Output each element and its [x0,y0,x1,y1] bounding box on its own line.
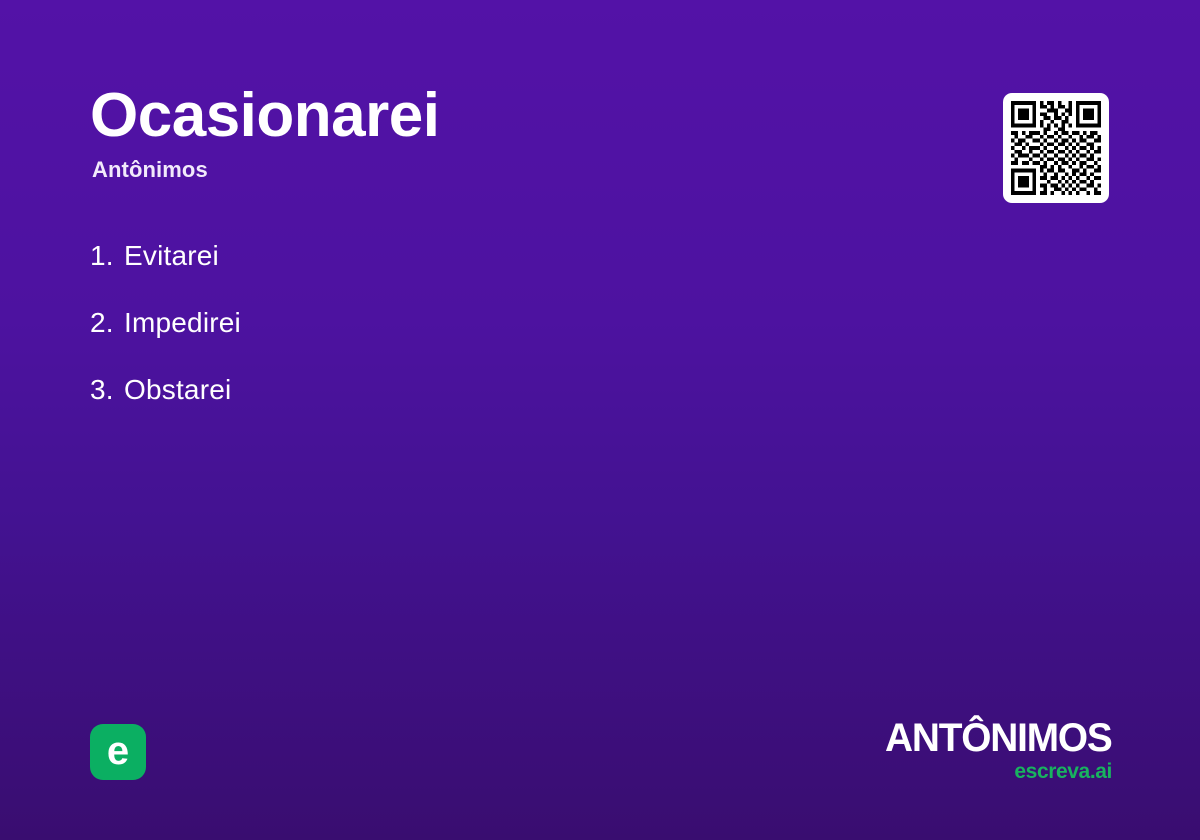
escreva-e-badge-icon: e [90,724,146,780]
list-item: 2.Impedirei [90,303,890,370]
list-item: 1.Evitarei [90,236,890,303]
list-item-number: 3. [90,370,124,410]
list-item: 3.Obstarei [90,370,890,437]
brand-name: ANTÔNIMOS [885,718,1112,758]
list-item-number: 1. [90,236,124,276]
page-title: Ocasionarei [90,84,910,147]
list-item-label: Evitarei [124,240,219,271]
list-item-label: Obstarei [124,374,231,405]
page-subtitle: Antônimos [92,157,910,183]
qr-code-icon [1011,101,1101,195]
qr-code-container[interactable] [1003,93,1109,203]
list-item-label: Impedirei [124,307,241,338]
header: Ocasionarei Antônimos [90,84,910,183]
antonyms-card: Ocasionarei Antônimos 1.Evitarei 2.Imped… [0,0,1200,840]
brand-domain: escreva.ai [878,761,1112,782]
list-item-number: 2. [90,303,124,343]
antonyms-list: 1.Evitarei 2.Impedirei 3.Obstarei [90,236,890,437]
brand-logo: ANTÔNIMOS escreva.ai [878,718,1112,782]
e-badge-letter: e [107,731,129,771]
